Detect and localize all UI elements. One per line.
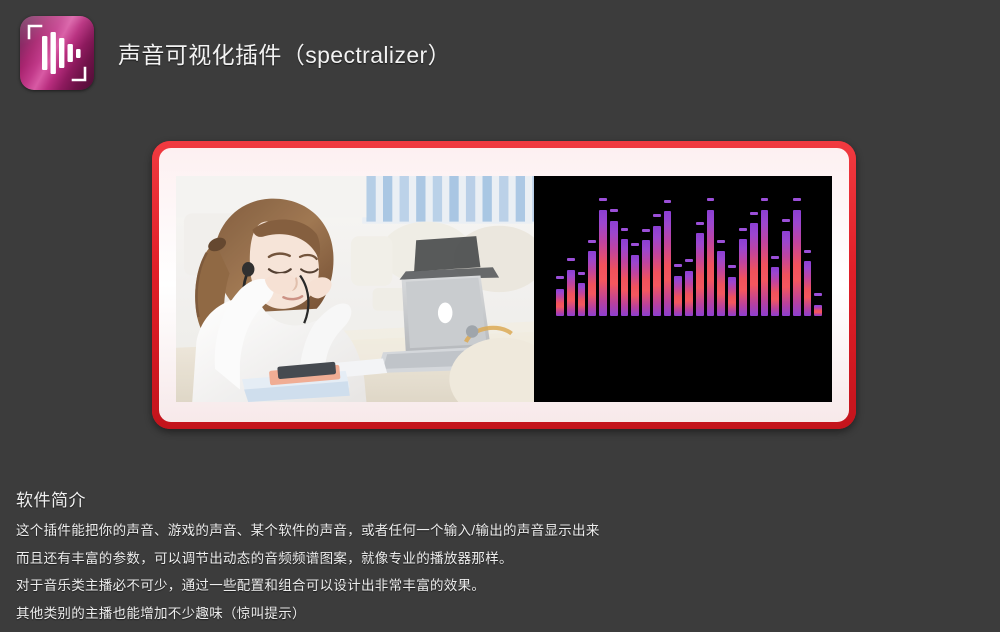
spectrum-bar-fill (621, 239, 629, 316)
spectrum-bar-fill (707, 210, 715, 316)
spectrum-bar (664, 194, 672, 316)
spectrum-bar-fill (750, 223, 758, 316)
spectrum-bar-fill (588, 251, 596, 316)
media-inner-mat (159, 148, 849, 422)
spectrum-bar (674, 194, 682, 316)
spectrum-bar-peak (814, 293, 822, 296)
spectrum-bar-fill (642, 240, 650, 316)
media-content (176, 176, 832, 402)
spectrum-bar (739, 194, 747, 316)
spectrum-bar-fill (728, 277, 736, 316)
spectrum-bar (717, 194, 725, 316)
spectrum-visualizer-panel (534, 176, 832, 402)
spectrum-bar-fill (696, 233, 704, 316)
spectrum-bar (750, 194, 758, 316)
spectrum-bar (653, 194, 661, 316)
description-line: 这个插件能把你的声音、游戏的声音、某个软件的声音，或者任何一个输入/输出的声音显… (16, 524, 836, 538)
spectrum-bar-fill (631, 255, 639, 316)
spectrum-bar-fill (771, 267, 779, 316)
spectrum-bar-peak (631, 243, 639, 246)
spectrum-bar-peak (567, 258, 575, 261)
page-root: 声音可视化插件（spectralizer） (0, 0, 1000, 632)
spectrum-bar-fill (761, 210, 769, 316)
spectrum-bar-peak (621, 228, 629, 231)
spectrum-bar-peak (588, 240, 596, 243)
spectrum-bar (567, 194, 575, 316)
description-line: 其他类别的主播也能增加不少趣味（惊叫提示） (16, 607, 836, 621)
spectrum-bar-peak (750, 212, 758, 215)
spectrum-bar (642, 194, 650, 316)
description-line: 而且还有丰富的参数，可以调节出动态的音频频谱图案，就像专业的播放器那样。 (16, 552, 836, 566)
spectrum-bar (621, 194, 629, 316)
app-icon-graphic (20, 16, 94, 90)
spectrum-bar-fill (556, 289, 564, 316)
spectrum-bar-fill (782, 231, 790, 316)
description-section: 软件简介 这个插件能把你的声音、游戏的声音、某个软件的声音，或者任何一个输入/输… (16, 486, 836, 632)
spectrum-bar-fill (664, 211, 672, 316)
spectrum-bar-peak (674, 264, 682, 267)
spectrum-bar (599, 194, 607, 316)
spectrum-bar-peak (761, 198, 769, 201)
spectrum-bar-peak (556, 276, 564, 279)
spectrum-bar-peak (739, 228, 747, 231)
spectrum-bar-fill (793, 210, 801, 316)
spectrum-bar-peak (782, 219, 790, 222)
preview-photo (176, 176, 534, 402)
spectrum-bars (556, 194, 822, 316)
spectrum-bar (685, 194, 693, 316)
spectrum-bar-peak (793, 198, 801, 201)
spectrum-bar (631, 194, 639, 316)
spectralizer-app-icon (20, 16, 94, 90)
spectrum-bar (804, 194, 812, 316)
spectrum-bar (556, 194, 564, 316)
spectrum-bar (771, 194, 779, 316)
spectrum-bar (578, 194, 586, 316)
spectrum-bar (610, 194, 618, 316)
spectrum-bar-fill (610, 221, 618, 316)
description-heading: 软件简介 (16, 486, 836, 511)
spectrum-bar (588, 194, 596, 316)
spectrum-bar-peak (578, 272, 586, 275)
description-line: 对于音乐类主播必不可少，通过一些配置和组合可以设计出非常丰富的效果。 (16, 579, 836, 593)
spectrum-bar-peak (610, 209, 618, 212)
spectrum-bar-peak (728, 265, 736, 268)
spectrum-bar-peak (664, 200, 672, 203)
spectrum-bar-peak (653, 214, 661, 217)
spectrum-bar-peak (642, 229, 650, 232)
spectrum-bar (761, 194, 769, 316)
spectrum-bar-peak (717, 240, 725, 243)
spectrum-bar (782, 194, 790, 316)
spectrum-bar (728, 194, 736, 316)
spectrum-bar-fill (717, 251, 725, 316)
page-header: 声音可视化插件（spectralizer） (0, 0, 1000, 110)
spectrum-bar-peak (685, 259, 693, 262)
spectrum-bar-peak (599, 198, 607, 201)
spectrum-bar-fill (567, 270, 575, 316)
media-frame (152, 141, 856, 429)
spectrum-bar-fill (804, 261, 812, 316)
spectrum-bar-fill (578, 283, 586, 316)
spectrum-bar (707, 194, 715, 316)
spectrum-bar (814, 194, 822, 316)
spectrum-bar-fill (653, 226, 661, 316)
spectrum-bar-peak (771, 256, 779, 259)
spectrum-bar-fill (814, 305, 822, 316)
spectrum-bar-peak (707, 198, 715, 201)
spectrum-bar-fill (685, 271, 693, 316)
spectrum-bar-fill (599, 210, 607, 316)
spectrum-bar-fill (674, 276, 682, 316)
spectrum-bar (696, 194, 704, 316)
page-title: 声音可视化插件（spectralizer） (118, 36, 451, 70)
spectrum-bar-peak (696, 222, 704, 225)
spectrum-bar-fill (739, 239, 747, 316)
spectrum-bar-peak (804, 250, 812, 253)
photo-graphic (176, 176, 534, 402)
spectrum-bar (793, 194, 801, 316)
